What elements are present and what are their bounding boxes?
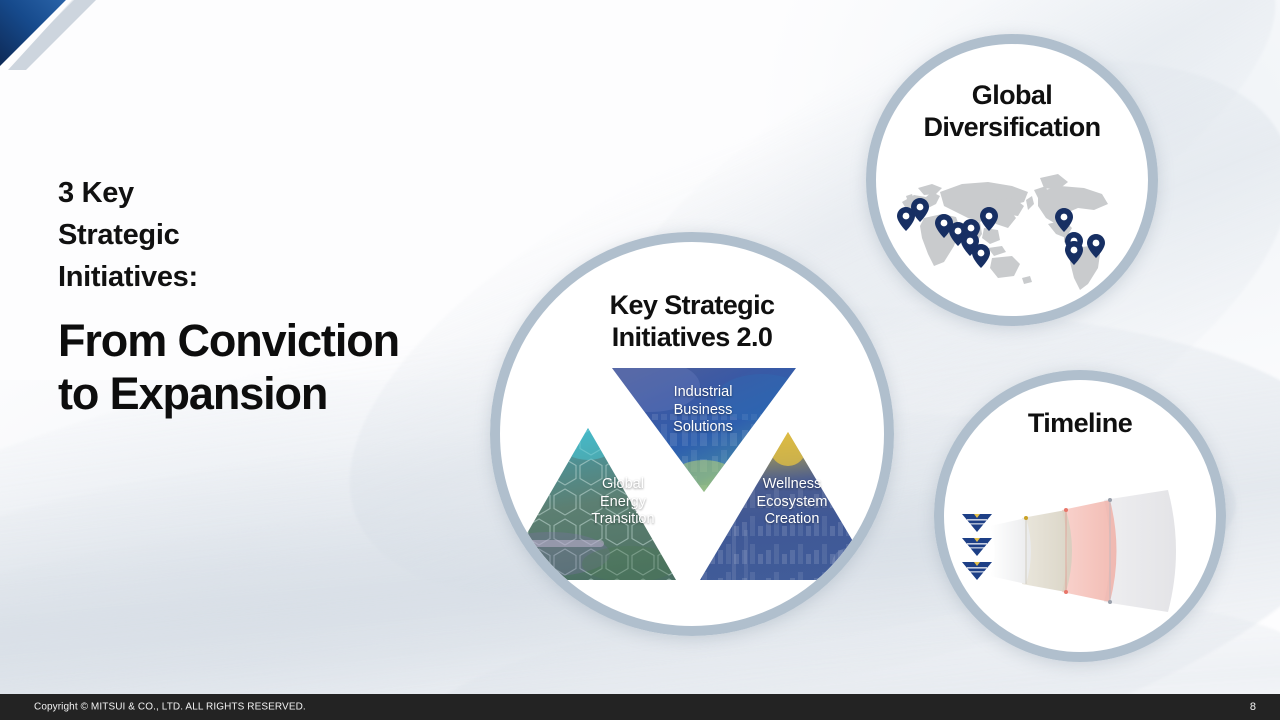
map-pin-icon [972, 244, 990, 268]
timeline-circle-title: Timeline [944, 408, 1216, 440]
timeline-circle[interactable]: Timeline [934, 370, 1226, 662]
circle-inner: Key Strategic Initiatives 2.0 [500, 242, 884, 626]
map-pin-icon [1065, 241, 1083, 265]
global-diversification-circle[interactable]: Global Diversification [866, 34, 1158, 326]
headline-block: 3 Key Strategic Initiatives: From Convic… [58, 172, 399, 420]
triangle-diagram-svg [500, 368, 884, 580]
map-pin-icon [1055, 208, 1073, 232]
headline-eyebrow: 3 Key Strategic Initiatives: [58, 172, 399, 298]
map-pins-layer [888, 162, 1136, 302]
funnel-svg [954, 476, 1206, 626]
global-circle-title: Global Diversification [876, 80, 1148, 144]
map-pin-icon [980, 207, 998, 231]
timeline-markers [962, 514, 992, 580]
footer-bar: Copyright © MITSUI & CO., LTD. ALL RIGHT… [0, 694, 1280, 720]
map-pin-icon [1087, 234, 1105, 258]
slide: 3 Key Strategic Initiatives: From Convic… [0, 0, 1280, 720]
timeline-funnel-icon [954, 476, 1206, 626]
page-number: 8 [1250, 701, 1256, 713]
page-title: From Conviction to Expansion [58, 314, 399, 420]
circle-inner: Timeline [944, 380, 1216, 652]
main-circle-title: Key Strategic Initiatives 2.0 [500, 290, 884, 354]
key-strategic-initiatives-circle[interactable]: Key Strategic Initiatives 2.0 [490, 232, 894, 636]
triangle-diagram: Industrial Business Solutions Global Ene… [500, 368, 884, 580]
world-map-icon [888, 162, 1136, 302]
triangle-global-energy [500, 428, 680, 580]
copyright-text: Copyright © MITSUI & CO., LTD. ALL RIGHT… [34, 702, 306, 713]
corner-accent-icon [0, 0, 150, 72]
circle-inner: Global Diversification [876, 44, 1148, 316]
